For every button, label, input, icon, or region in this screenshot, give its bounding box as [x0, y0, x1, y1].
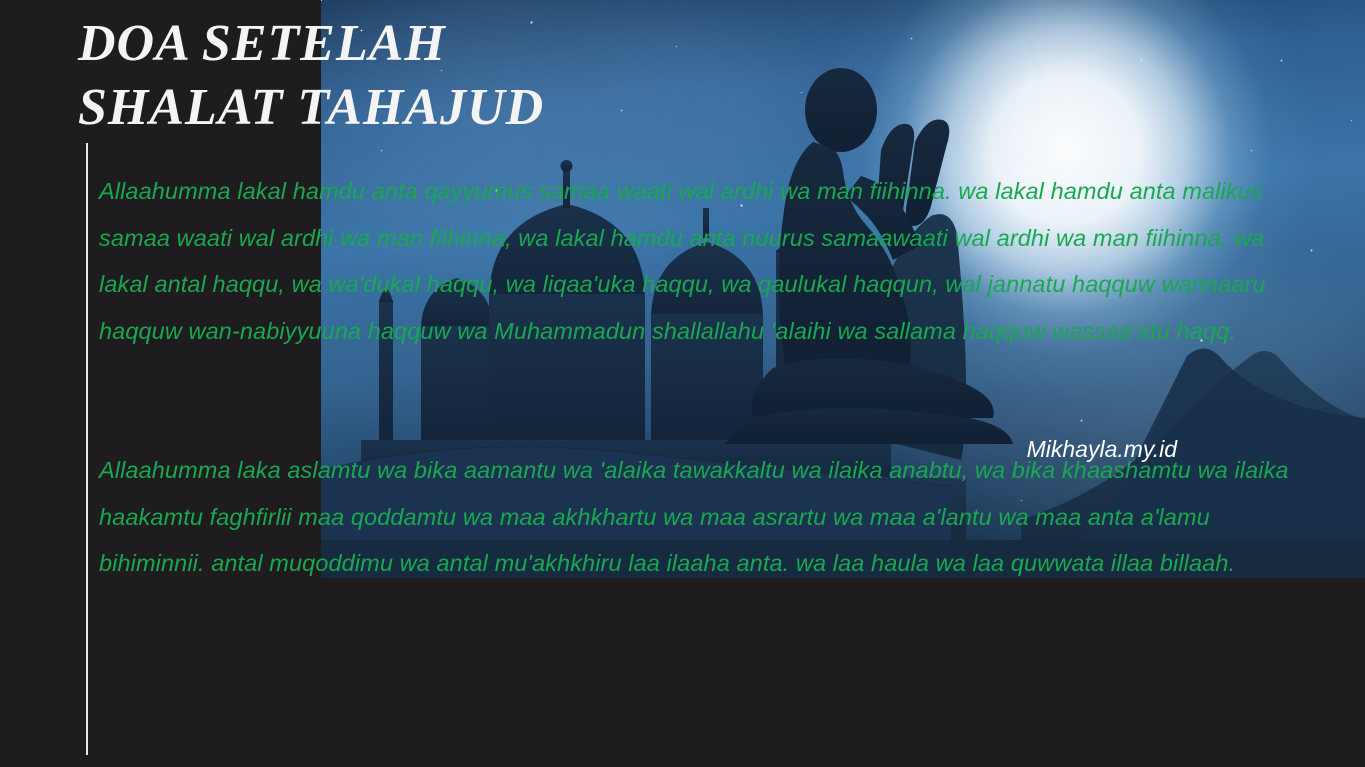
prayer-paragraph-1: Allaahumma lakal hamdu anta qayyumus sam… [99, 168, 1314, 354]
page-title: DOA SETELAH SHALAT TAHAJUD [78, 12, 544, 140]
vertical-divider-rule [86, 143, 88, 755]
prayer-paragraph-2: Allaahumma laka aslamtu wa bika aamantu … [99, 447, 1314, 587]
watermark-label: Mikhayla.my.id [1027, 436, 1177, 463]
slide-canvas: DOA SETELAH SHALAT TAHAJUD Allaahumma la… [0, 0, 1365, 767]
prayer-text-block: Allaahumma lakal hamdu anta qayyumus sam… [99, 168, 1314, 587]
